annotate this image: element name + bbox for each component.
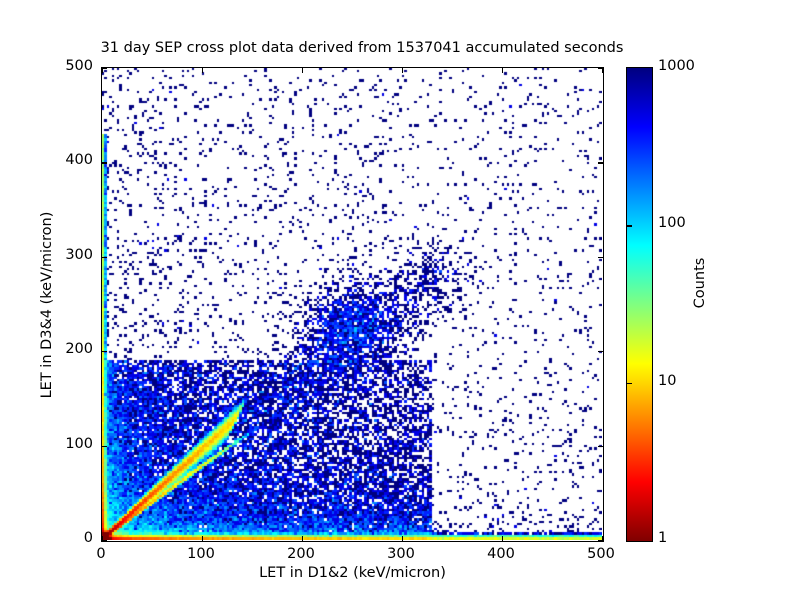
y-tick-label-500: 500 [31,58,93,74]
y-tick-100 [102,446,107,447]
colorbar-tick-10 [627,383,632,384]
x-tick-100 [202,68,203,73]
colorbar-label-1000: 1000 [658,58,695,74]
colorbar-gradient [627,68,652,541]
x-tick-300 [402,536,403,541]
x-tick-200 [302,68,303,73]
x-tick-label-300: 300 [366,546,436,562]
colorbar[interactable] [626,67,653,542]
x-tick-label-400: 400 [466,546,536,562]
y-tick-300 [598,257,603,258]
y-tick-0 [102,540,107,541]
y-tick-label-0: 0 [31,530,93,546]
colorbar-tick-100 [627,225,632,226]
y-tick-300 [102,257,107,258]
x-axis-title: LET in D1&2 (keV/micron) [101,565,604,581]
colorbar-label-1: 1 [658,530,667,546]
y-tick-0 [598,540,603,541]
x-tick-400 [502,68,503,73]
x-tick-label-500: 500 [566,546,636,562]
density-heatmap [102,68,602,540]
x-tick-label-200: 200 [266,546,336,562]
y-tick-200 [102,351,107,352]
y-tick-100 [598,446,603,447]
colorbar-title: Counts [692,223,708,343]
x-tick-400 [502,536,503,541]
title-line-1: 31 day SEP cross plot data derived from … [0,40,724,58]
colorbar-label-10: 10 [658,373,676,389]
plot-area[interactable] [101,67,604,542]
x-tick-label-0: 0 [66,546,136,562]
x-tick-100 [202,536,203,541]
y-tick-label-300: 300 [31,247,93,263]
y-tick-label-400: 400 [31,152,93,168]
y-tick-500 [598,68,603,69]
x-tick-300 [402,68,403,73]
y-tick-label-100: 100 [31,436,93,452]
colorbar-label-100: 100 [658,215,686,231]
y-axis-title: LET in D3&4 (keV/micron) [39,195,55,415]
y-tick-label-200: 200 [31,341,93,357]
y-tick-500 [102,68,107,69]
y-tick-400 [598,162,603,163]
y-tick-200 [598,351,603,352]
y-tick-400 [102,162,107,163]
x-tick-200 [302,536,303,541]
figure-canvas: 31 day SEP cross plot data derived from … [0,0,800,600]
x-tick-label-100: 100 [166,546,236,562]
